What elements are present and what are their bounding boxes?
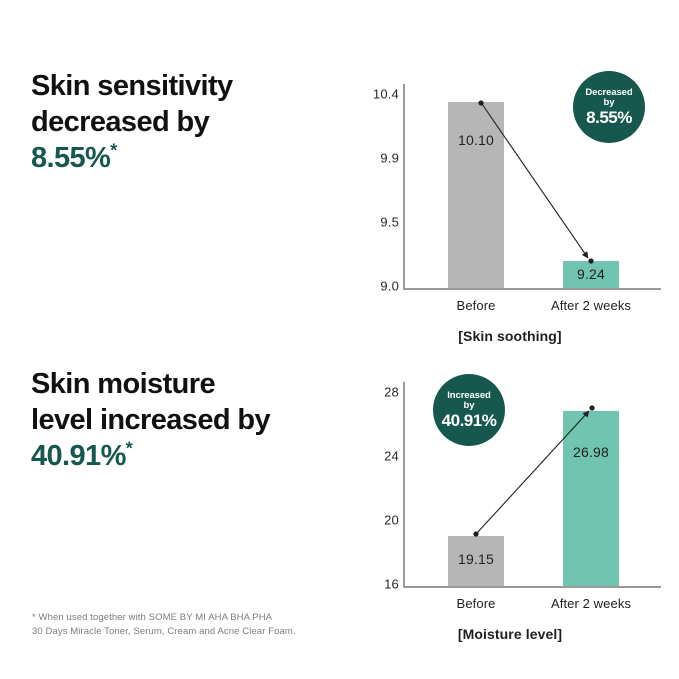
footnote-line-1: * When used together with SOME BY MI AHA… [32,611,296,625]
infographic-page: Skin sensitivity decreased by 8.55%* 10.… [0,0,679,679]
headline-2-line-1: Skin moisture [31,366,270,402]
footnote: * When used together with SOME BY MI AHA… [32,611,296,639]
caption-moisture-level: [Moisture level] [355,626,665,642]
headline-2-value: 40.91% [31,440,126,472]
caption-skin-soothing: [Skin soothing] [355,328,665,344]
x-label-before-2: Before [457,596,496,611]
headline-2-line-2: level increased by [31,402,270,438]
x-label-before-1: Before [457,298,496,313]
headline-1-asterisk: * [110,140,116,160]
badge-2-sub: by [463,401,474,411]
x-label-after-2: After 2 weeks [551,596,631,611]
headline-skin-moisture: Skin moisture level increased by 40.91%* [31,366,270,474]
badge-1-value: 8.55% [586,109,632,127]
headline-1-value: 8.55% [31,142,110,174]
headline-2-asterisk: * [126,438,132,458]
plot-area-2: 28 24 20 16 19.15 26.98 [355,368,665,593]
chart-moisture-level: 28 24 20 16 19.15 26.98 [355,368,665,648]
footnote-line-2: 30 Days Miracle Toner, Serum, Cream and … [32,625,296,639]
headline-1-line-2: decreased by [31,104,233,140]
connector-arrow-2 [355,368,665,593]
headline-1-line-1: Skin sensitivity [31,68,233,104]
x-label-after-1: After 2 weeks [551,298,631,313]
badge-2-value: 40.91% [442,412,497,430]
badge-decreased: Decreased by 8.55% [573,71,645,143]
badge-1-sub: by [603,98,614,108]
headline-2-line-3: 40.91%* [31,438,270,474]
headline-skin-sensitivity: Skin sensitivity decreased by 8.55%* [31,68,233,176]
chart-skin-soothing: 10.4 9.9 9.5 9.0 10.10 9.24 [355,70,665,350]
headline-1-line-3: 8.55%* [31,140,233,176]
badge-increased: Increased by 40.91% [433,374,505,446]
